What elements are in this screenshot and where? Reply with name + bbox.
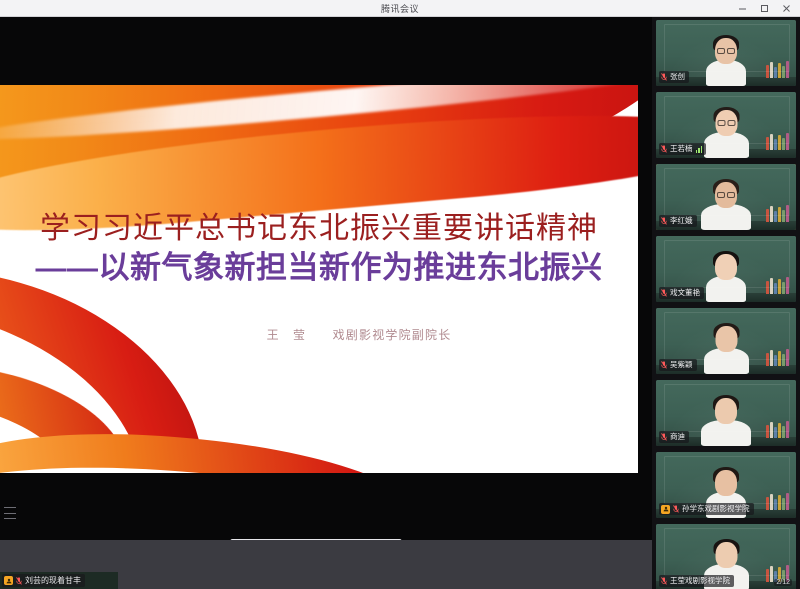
avatar-glasses-icon (717, 192, 735, 198)
slide-title-line-1: 学习习近平总书记东北振兴重要讲话精神 (0, 210, 638, 248)
bookshelf-decor (766, 133, 792, 150)
shared-screen-stage[interactable]: 学习习近平总书记东北振兴重要讲话精神 ——以新气象新担当新作为推进东北振兴 王 … (0, 17, 652, 540)
participant-name: 王莹戏剧影视学院 (670, 576, 730, 586)
participant-nameplate: 张创 (659, 71, 689, 83)
maximize-button[interactable] (754, 1, 774, 16)
slide-text-block: 学习习近平总书记东北振兴重要讲话精神 ——以新气象新担当新作为推进东北振兴 王 … (0, 85, 638, 473)
participant-nameplate: 王莹戏剧影视学院 (659, 575, 734, 587)
window-controls (732, 0, 796, 17)
mic-muted-icon (16, 577, 22, 585)
participant-tile[interactable]: 王若楠 (652, 89, 800, 161)
participant-name: 商迪 (670, 432, 685, 442)
mic-muted-icon (661, 433, 667, 441)
mic-muted-icon (673, 505, 679, 513)
participant-video: 李红娥 (656, 164, 796, 230)
participant-video: 王莹戏剧影视学院2/12 (656, 524, 796, 589)
audio-level-icon (696, 146, 703, 153)
participant-video: 孙学东戏剧影视学院 (656, 452, 796, 518)
participant-tile[interactable]: 戏文董艳 (652, 233, 800, 305)
mic-muted-icon (661, 145, 667, 153)
participant-rail[interactable]: 张创王若楠李红娥戏文董艳吴紫颖商迪孙学东戏剧影视学院王莹戏剧影视学院2/12 (652, 17, 800, 589)
avatar-head (715, 470, 737, 496)
avatar-head (715, 110, 737, 136)
avatar-head (715, 254, 737, 280)
participant-name: 戏文董艳 (670, 288, 700, 298)
page-indicator: 2/12 (774, 579, 792, 586)
participant-nameplate: 王若楠 (659, 143, 706, 155)
avatar-glasses-icon (717, 120, 735, 126)
participant-video: 吴紫颖 (656, 308, 796, 374)
avatar-hair (713, 251, 739, 268)
avatar-glasses-icon (717, 48, 735, 54)
participant-avatar (706, 244, 746, 302)
bookshelf-decor (766, 277, 792, 294)
avatar-head (715, 182, 737, 208)
avatar-body (706, 60, 746, 86)
avatar-hair (713, 107, 739, 124)
mic-muted-icon (661, 577, 667, 585)
avatar-head (715, 38, 737, 64)
avatar-head (715, 542, 737, 568)
mic-muted-icon (661, 361, 667, 369)
participant-nameplate: 戏文董艳 (659, 287, 704, 299)
slide-title-line-2: ——以新气象新担当新作为推进东北振兴 (0, 248, 638, 288)
host-badge-icon (661, 505, 670, 514)
self-view-tile[interactable]: 刘芸的现着甘丰 (0, 572, 118, 589)
participant-tile[interactable]: 吴紫颖 (652, 305, 800, 377)
tencent-meeting-window: 腾讯会议 学习习近平总书 (0, 0, 800, 589)
participant-name: 李红娥 (670, 216, 693, 226)
avatar-hair (713, 179, 739, 196)
mic-muted-icon (661, 217, 667, 225)
self-view-name: 刘芸的现着甘丰 (25, 575, 81, 586)
participant-name: 孙学东戏剧影视学院 (682, 504, 750, 514)
participant-video: 王若楠 (656, 92, 796, 158)
participant-tile[interactable]: 李红娥 (652, 161, 800, 233)
slide-presenter: 王 莹 戏剧影视学院副院长 (0, 326, 638, 343)
participant-tile[interactable]: 王莹戏剧影视学院2/12 (652, 521, 800, 589)
window-titlebar: 腾讯会议 (0, 0, 800, 17)
participant-avatar (701, 388, 751, 446)
mic-muted-icon (661, 73, 667, 81)
self-view-nameplate: 刘芸的现着甘丰 (2, 574, 85, 587)
bookshelf-decor (766, 205, 792, 222)
participant-tile[interactable]: 张创 (652, 17, 800, 89)
avatar-hair (713, 35, 739, 52)
avatar-body (701, 204, 751, 230)
participant-avatar (704, 100, 749, 158)
presentation-slide: 学习习近平总书记东北振兴重要讲话精神 ——以新气象新担当新作为推进东北振兴 王 … (0, 85, 638, 473)
avatar-hair (713, 395, 739, 412)
participant-avatar (704, 316, 749, 374)
avatar-hair (713, 539, 739, 556)
participant-video: 戏文董艳 (656, 236, 796, 302)
avatar-head (715, 326, 737, 352)
bookshelf-decor (766, 349, 792, 366)
participant-nameplate: 李红娥 (659, 215, 697, 227)
bookshelf-decor (766, 493, 792, 510)
participant-video: 张创 (656, 20, 796, 86)
bookshelf-decor (766, 61, 792, 78)
avatar-hair (713, 323, 739, 340)
avatar-body (706, 276, 746, 302)
participant-avatar (706, 28, 746, 86)
participant-avatar (701, 172, 751, 230)
close-button[interactable] (776, 1, 796, 16)
stage-menu-icon[interactable] (3, 504, 17, 522)
avatar-body (704, 348, 749, 374)
participant-tile[interactable]: 商迪 (652, 377, 800, 449)
mic-muted-icon (661, 289, 667, 297)
participant-video: 商迪 (656, 380, 796, 446)
participant-tile[interactable]: 孙学东戏剧影视学院 (652, 449, 800, 521)
participant-name: 张创 (670, 72, 685, 82)
participant-name: 吴紫颖 (670, 360, 693, 370)
bookshelf-decor (766, 421, 792, 438)
participant-nameplate: 吴紫颖 (659, 359, 697, 371)
avatar-hair (713, 467, 739, 484)
participant-nameplate: 商迪 (659, 431, 689, 443)
minimize-button[interactable] (732, 1, 752, 16)
window-title: 腾讯会议 (381, 2, 419, 15)
avatar-body (704, 132, 749, 158)
avatar-head (715, 398, 737, 424)
participant-nameplate: 孙学东戏剧影视学院 (659, 503, 754, 515)
participant-name: 王若楠 (670, 144, 693, 154)
avatar-body (701, 420, 751, 446)
host-badge-icon (4, 576, 13, 585)
